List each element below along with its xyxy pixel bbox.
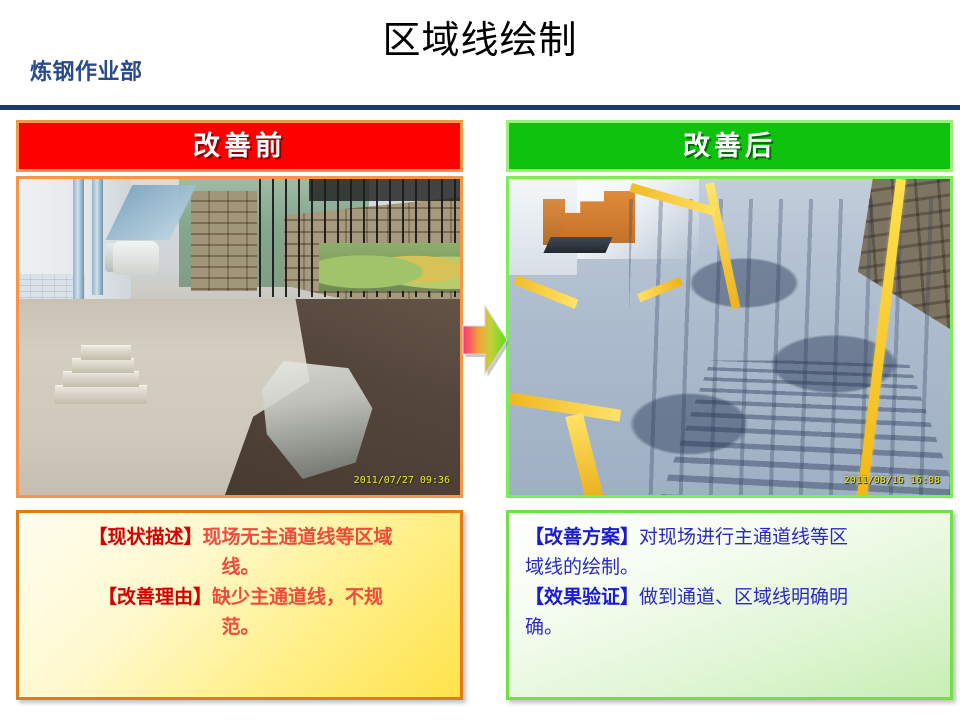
photo-after-leaf-shadow-2 (759, 329, 909, 399)
department-label: 炼钢作业部 (30, 57, 143, 87)
photo-after-leaf-shadow-3 (619, 387, 759, 461)
photo-before-column-2 (92, 179, 103, 295)
textbox-before: 【现状描述】现场无主通道线等区域 线。 【改善理由】缺少主通道线，不规 范。 (16, 510, 463, 700)
panel-before-photo-frame: 2011/07/27 09:36 (16, 176, 463, 498)
panel-after-photo-frame: 2011/08/16 16:08 (506, 176, 953, 498)
textbox-after-tag-3: 【效果验证】 (525, 587, 639, 608)
textbox-after-body-1: 对现场进行主通道线等区 (639, 527, 848, 548)
textbox-after-line-1: 【改善方案】对现场进行主通道线等区 (525, 523, 936, 553)
textbox-before-line-1: 【现状描述】现场无主通道线等区域 (35, 523, 446, 553)
photo-before-stone-pillar (191, 191, 257, 291)
photo-after: 2011/08/16 16:08 (509, 179, 950, 495)
improvement-arrow (459, 300, 509, 380)
photo-after-drain-grate (543, 237, 612, 253)
textbox-before-body-1: 现场无主通道线等区域 (203, 527, 393, 548)
textbox-after-line-2: 域线的绘制。 (525, 553, 936, 583)
photo-after-timestamp: 2011/08/16 16:08 (844, 475, 940, 486)
textbox-before-body-3: 缺少主通道线，不规 (212, 587, 383, 608)
textbox-before-line-4: 范。 (35, 613, 446, 643)
textbox-after-tag-1: 【改善方案】 (525, 527, 639, 548)
panel-after: 改善后 2011/08/16 16:08 (506, 120, 953, 498)
photo-after-leaf-shadow-1 (679, 253, 809, 313)
textbox-before-tag-1: 【现状描述】 (88, 527, 202, 548)
panel-before-title: 改善前 (16, 120, 463, 172)
photo-before-column-1 (73, 179, 84, 301)
photo-before: 2011/07/27 09:36 (19, 179, 460, 495)
page-title: 区域线绘制 (0, 18, 960, 64)
textbox-before-tag-3: 【改善理由】 (98, 587, 212, 608)
textbox-after-body-3: 做到通道、区域线明确明 (639, 587, 848, 608)
textbox-after-body-2: 域线的绘制。 (525, 557, 639, 578)
textbox-before-line-3: 【改善理由】缺少主通道线，不规 (35, 583, 446, 613)
photo-before-duct (113, 241, 159, 275)
photo-before-shrubs (319, 243, 460, 291)
textbox-after-line-4: 确。 (525, 613, 936, 643)
photo-before-timestamp: 2011/07/27 09:36 (354, 475, 450, 486)
panel-before: 改善前 2011/07/27 09 (16, 120, 463, 498)
slide-header: 区域线绘制 炼钢作业部 (0, 0, 960, 112)
panel-after-title: 改善后 (506, 120, 953, 172)
header-divider (0, 105, 960, 110)
textbox-before-line-2: 线。 (35, 553, 446, 583)
textbox-after-body-4: 确。 (525, 617, 563, 638)
textbox-before-body-2: 线。 (221, 557, 259, 578)
textbox-after-line-3: 【效果验证】做到通道、区域线明确明 (525, 583, 936, 613)
textbox-before-body-4: 范。 (221, 617, 259, 638)
photo-before-steps (55, 341, 147, 403)
photo-before-fence-rail (309, 179, 460, 201)
textbox-after: 【改善方案】对现场进行主通道线等区 域线的绘制。 【效果验证】做到通道、区域线明… (506, 510, 953, 700)
